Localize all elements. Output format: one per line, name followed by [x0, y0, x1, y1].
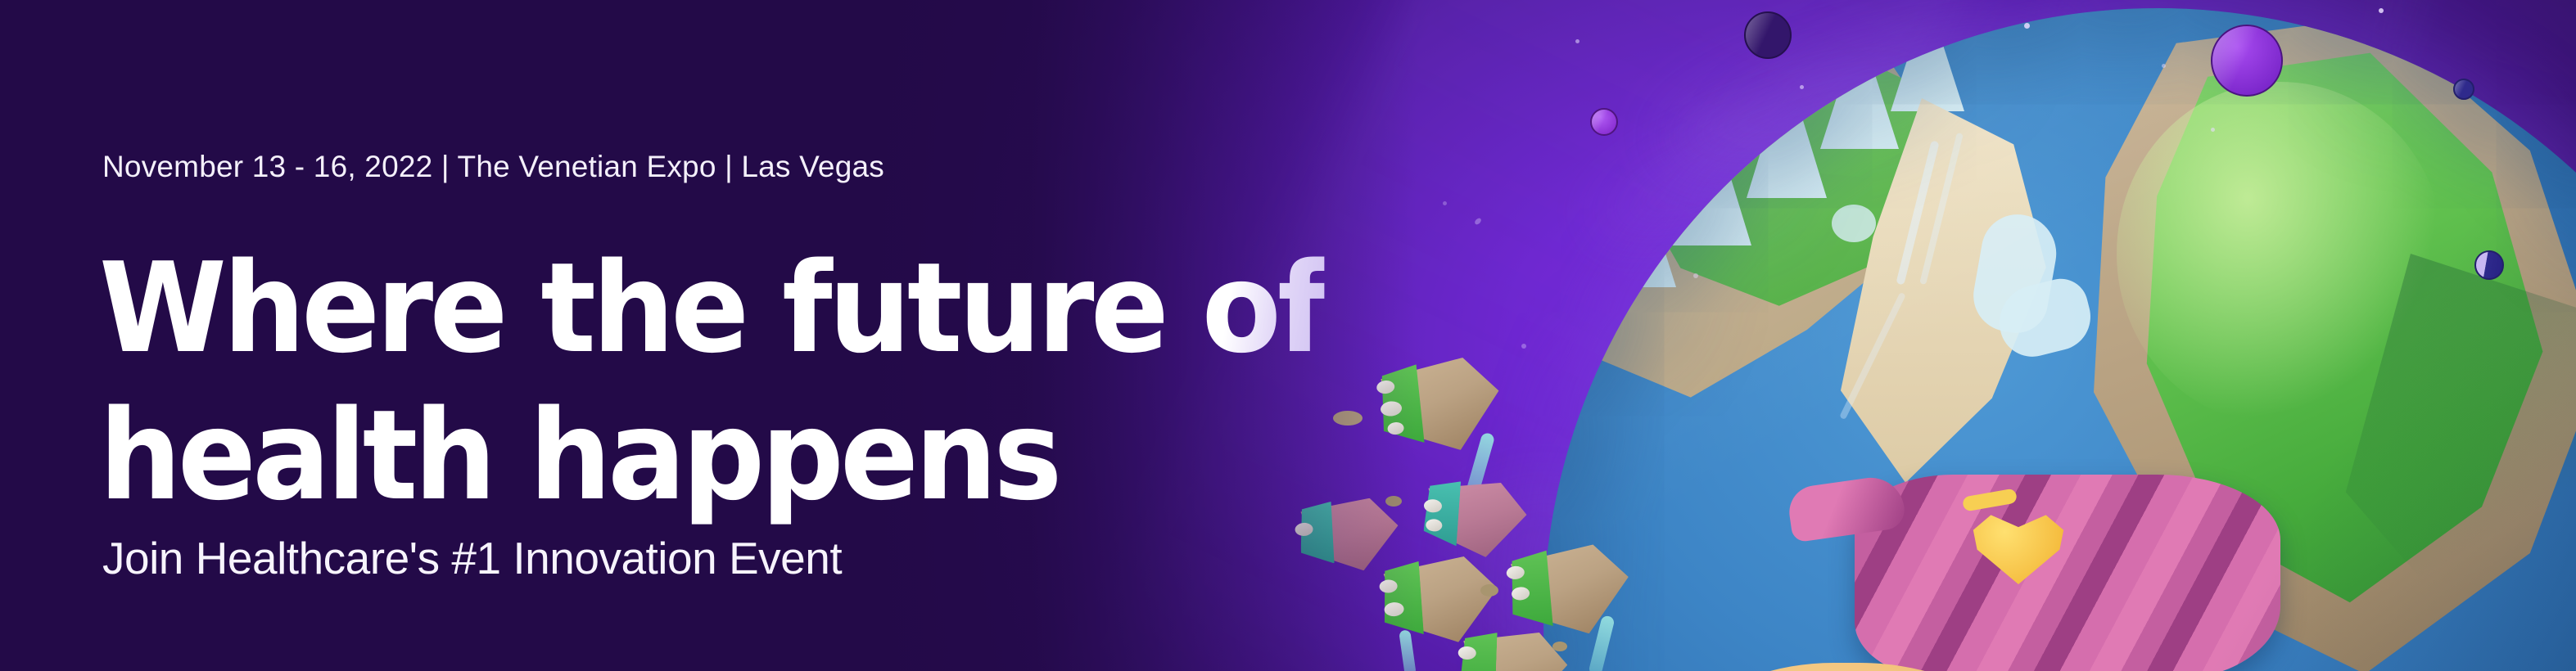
hero-banner: November 13 - 16, 2022 | The Venetian Ex… — [0, 0, 2576, 671]
page-title: Where the future of health happens — [99, 235, 1245, 529]
headline-line-1: Where the future of — [99, 235, 1165, 382]
headline-line-1-plain: Where the future — [99, 236, 1202, 381]
event-details-line: November 13 - 16, 2022 | The Venetian Ex… — [102, 150, 884, 184]
headline-line-2: health happens — [99, 382, 1165, 529]
headline-line-1-accent: of — [1202, 236, 1324, 381]
hero-copy: November 13 - 16, 2022 | The Venetian Ex… — [102, 0, 1249, 671]
subheadline: Join Healthcare's #1 Innovation Event — [102, 532, 842, 584]
